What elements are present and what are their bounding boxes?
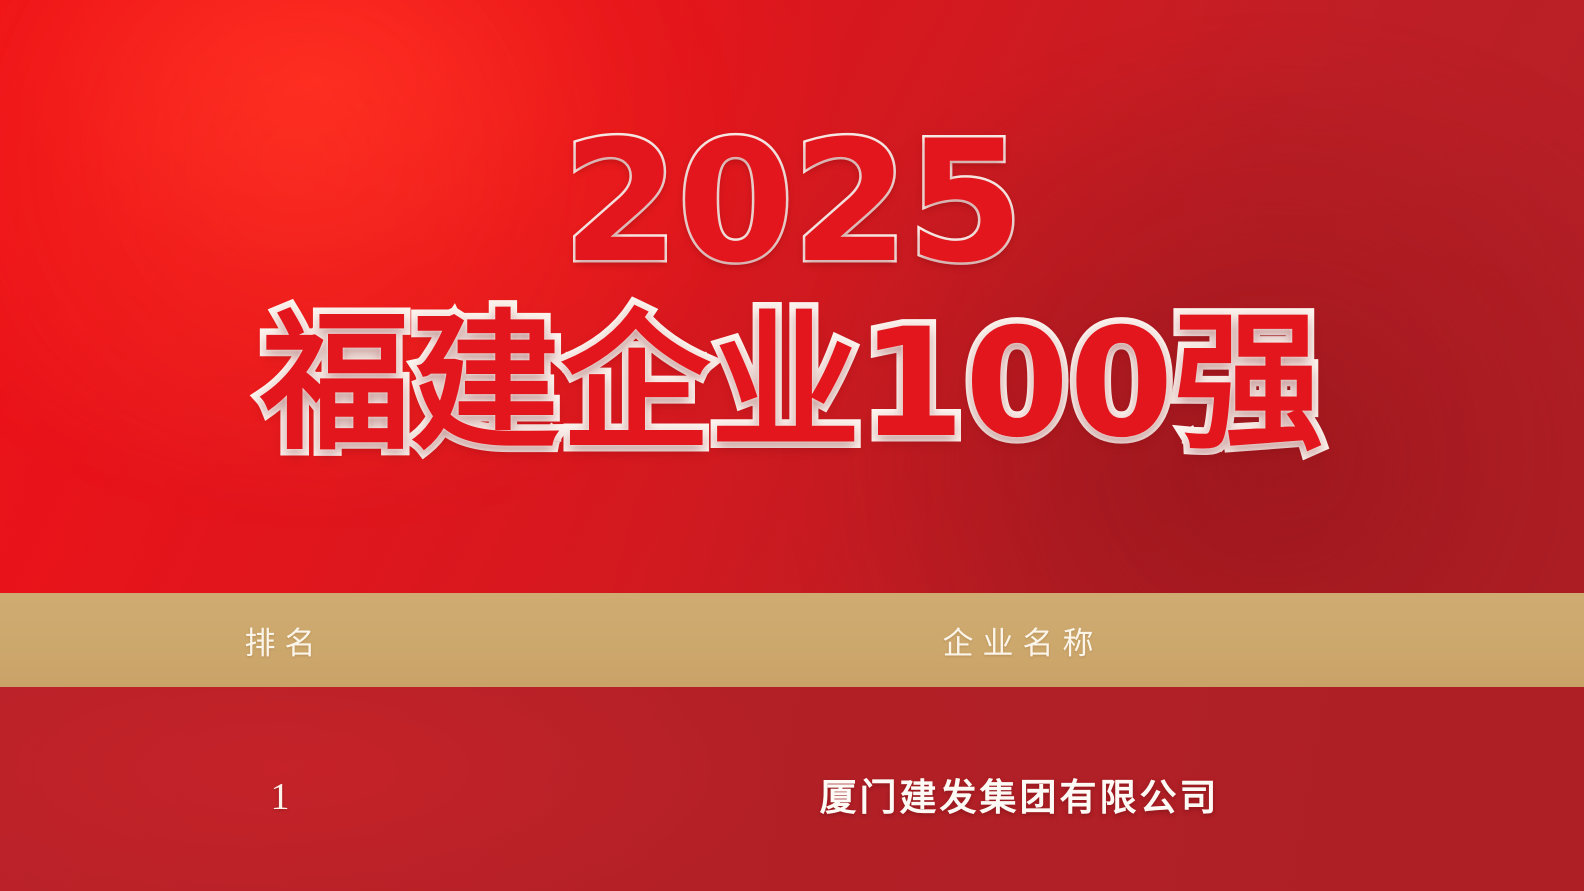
poster-year: 2025 xyxy=(0,118,1584,286)
ranking-poster: 2025 福建企业100强 排名 企业名称 1 厦门建发集团有限公司 xyxy=(0,0,1584,891)
table-body: 1 厦门建发集团有限公司 xyxy=(0,687,1584,891)
cell-company-name: 厦门建发集团有限公司 xyxy=(560,779,1584,816)
column-header-company-name: 企业名称 xyxy=(560,618,1584,663)
column-header-rank: 排名 xyxy=(0,618,560,663)
table-row[interactable]: 1 厦门建发集团有限公司 xyxy=(0,742,1584,852)
page-title: 福建企业100强 xyxy=(0,300,1584,468)
hero-banner: 2025 福建企业100强 xyxy=(0,0,1584,593)
table-header-row: 排名 企业名称 xyxy=(0,593,1584,687)
cell-rank: 1 xyxy=(0,778,560,816)
